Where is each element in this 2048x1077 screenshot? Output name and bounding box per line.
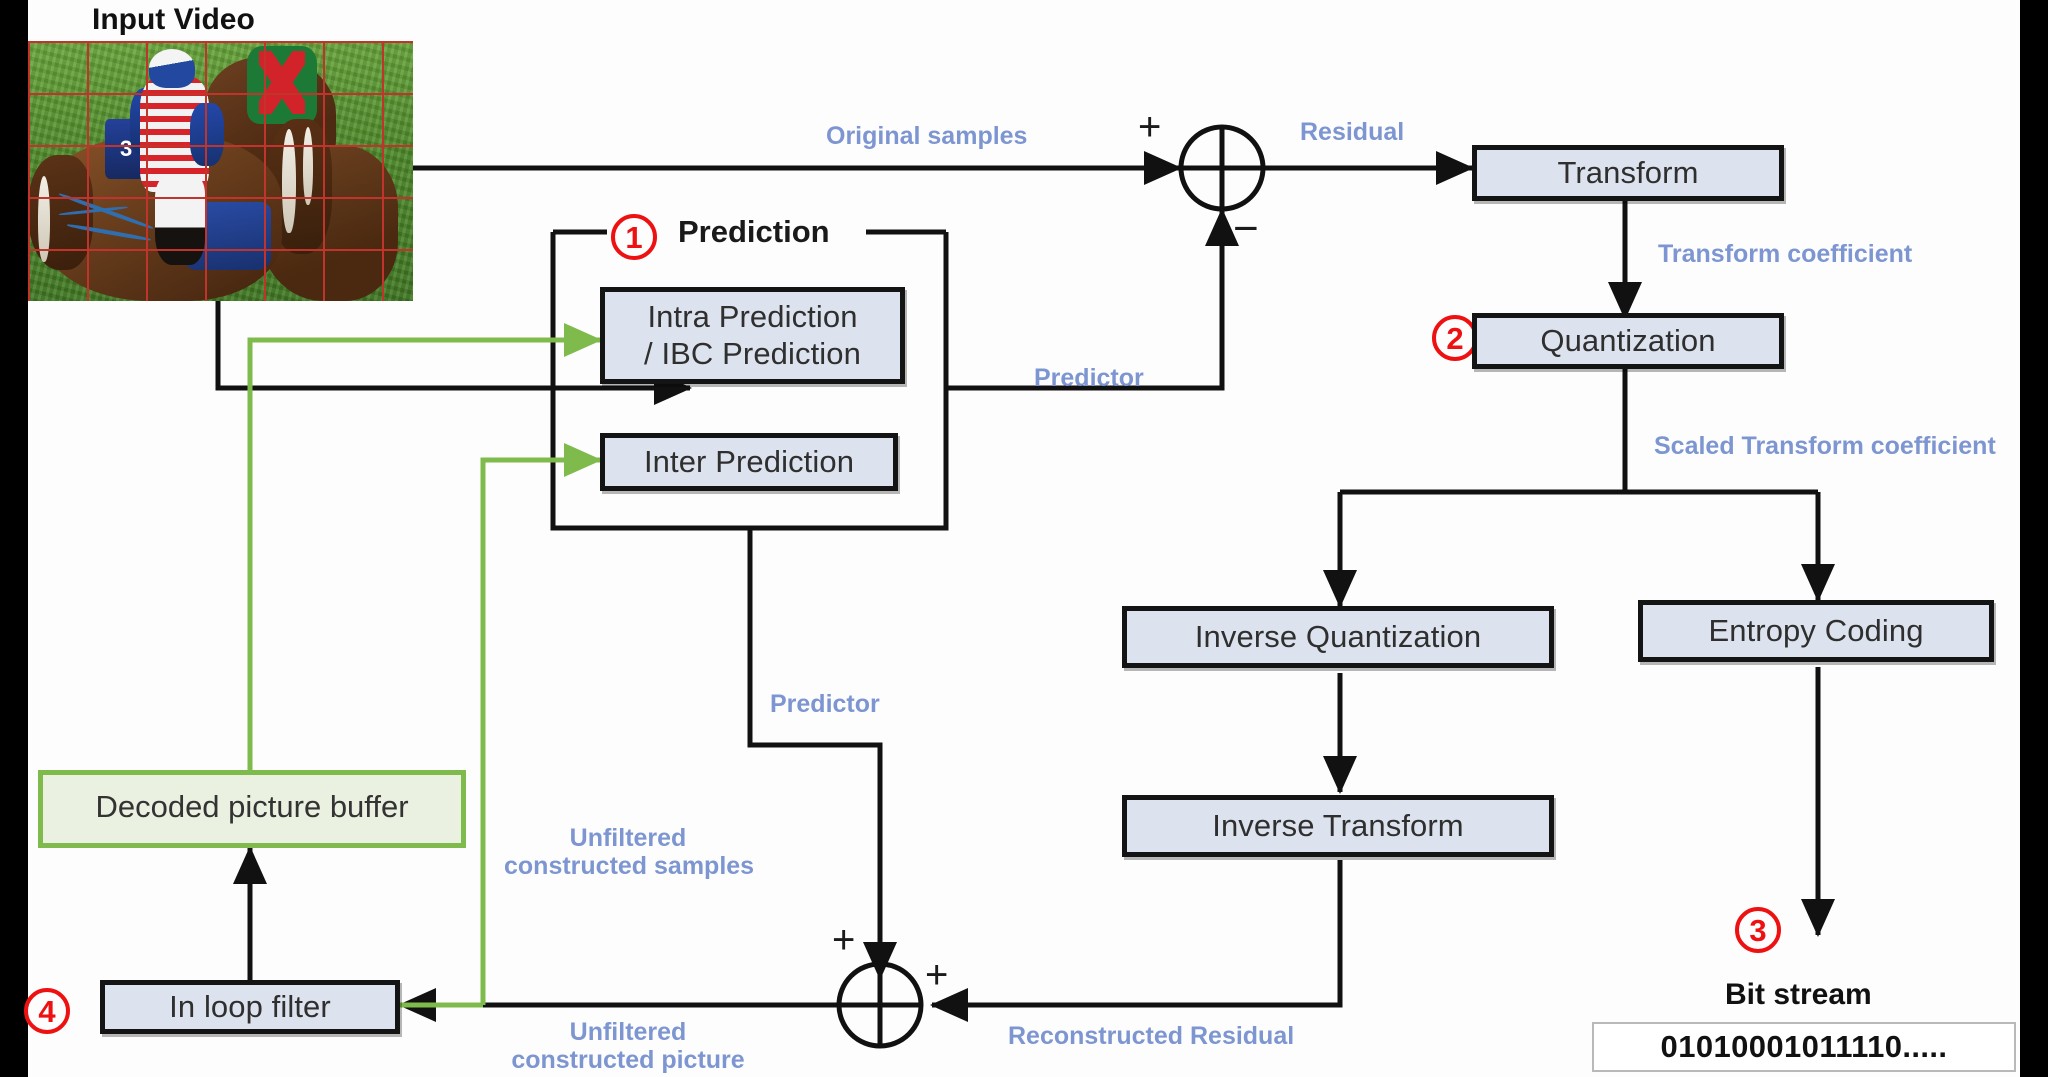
label-unfiltered-samples-line1: Unfiltered [504, 824, 752, 852]
box-intra-prediction-line1: Intra Prediction [647, 299, 857, 336]
operator-plus-top-adder: + [1138, 107, 1161, 147]
box-inter-prediction[interactable]: Inter Prediction [600, 433, 898, 491]
box-transform[interactable]: Transform [1472, 145, 1784, 201]
label-reconstructed-residual: Reconstructed Residual [1008, 1022, 1294, 1050]
diagram-canvas: Input Video 3 Prediction 1 Intra Predict… [0, 0, 2048, 1077]
page-edge-right [2020, 0, 2048, 1077]
adder-bottom-circle [839, 964, 921, 1046]
operator-plus-bottom-adder-horizontal: + [925, 955, 948, 995]
block-grid-overlay [28, 41, 413, 301]
step-marker-3: 3 [1735, 907, 1781, 953]
box-quantization[interactable]: Quantization [1472, 313, 1784, 369]
box-intra-prediction[interactable]: Intra Prediction / IBC Prediction [600, 287, 905, 384]
label-scaled-transform-coefficient: Scaled Transform coefficient [1654, 432, 1996, 460]
page-edge-left [0, 0, 28, 1077]
input-video-title: Input Video [92, 3, 255, 37]
label-unfiltered-picture-line2: constructed picture [504, 1046, 752, 1074]
label-residual: Residual [1300, 118, 1404, 146]
box-in-loop-filter[interactable]: In loop filter [100, 980, 400, 1034]
operator-minus-top-adder: − [1233, 207, 1259, 251]
label-transform-coefficient: Transform coefficient [1658, 240, 1912, 268]
prediction-group-label: Prediction [678, 214, 830, 250]
step-marker-4: 4 [24, 988, 70, 1034]
bit-stream-value: 01010001011110..... [1592, 1022, 2016, 1072]
label-unfiltered-picture-line1: Unfiltered [504, 1018, 752, 1046]
box-inverse-transform[interactable]: Inverse Transform [1122, 795, 1554, 857]
label-predictor-bottom: Predictor [770, 690, 880, 718]
step-marker-1: 1 [611, 214, 657, 260]
adder-top-circle [1181, 127, 1263, 209]
label-unfiltered-constructed-picture: Unfiltered constructed picture [504, 1018, 752, 1074]
wire-predictor-to-bottom-adder [750, 528, 880, 978]
label-original-samples: Original samples [826, 122, 1027, 150]
label-predictor-top: Predictor [1034, 364, 1144, 392]
wire-predictor-to-top-adder [946, 210, 1222, 388]
box-intra-prediction-line2: / IBC Prediction [644, 336, 861, 373]
box-entropy-coding[interactable]: Entropy Coding [1638, 600, 1994, 662]
operator-plus-bottom-adder-vertical: + [832, 920, 855, 960]
box-inverse-quantization[interactable]: Inverse Quantization [1122, 606, 1554, 668]
wire-dpb-to-inter [483, 460, 600, 1005]
box-decoded-picture-buffer[interactable]: Decoded picture buffer [38, 770, 466, 848]
bit-stream-heading: Bit stream [1725, 978, 1872, 1012]
input-video-thumbnail: 3 [28, 41, 413, 301]
label-unfiltered-samples-line2: constructed samples [504, 852, 752, 880]
label-unfiltered-constructed-samples: Unfiltered constructed samples [504, 824, 752, 880]
wire-dpb-to-intra [250, 340, 600, 770]
wire-reconstructed-residual [932, 860, 1340, 1005]
